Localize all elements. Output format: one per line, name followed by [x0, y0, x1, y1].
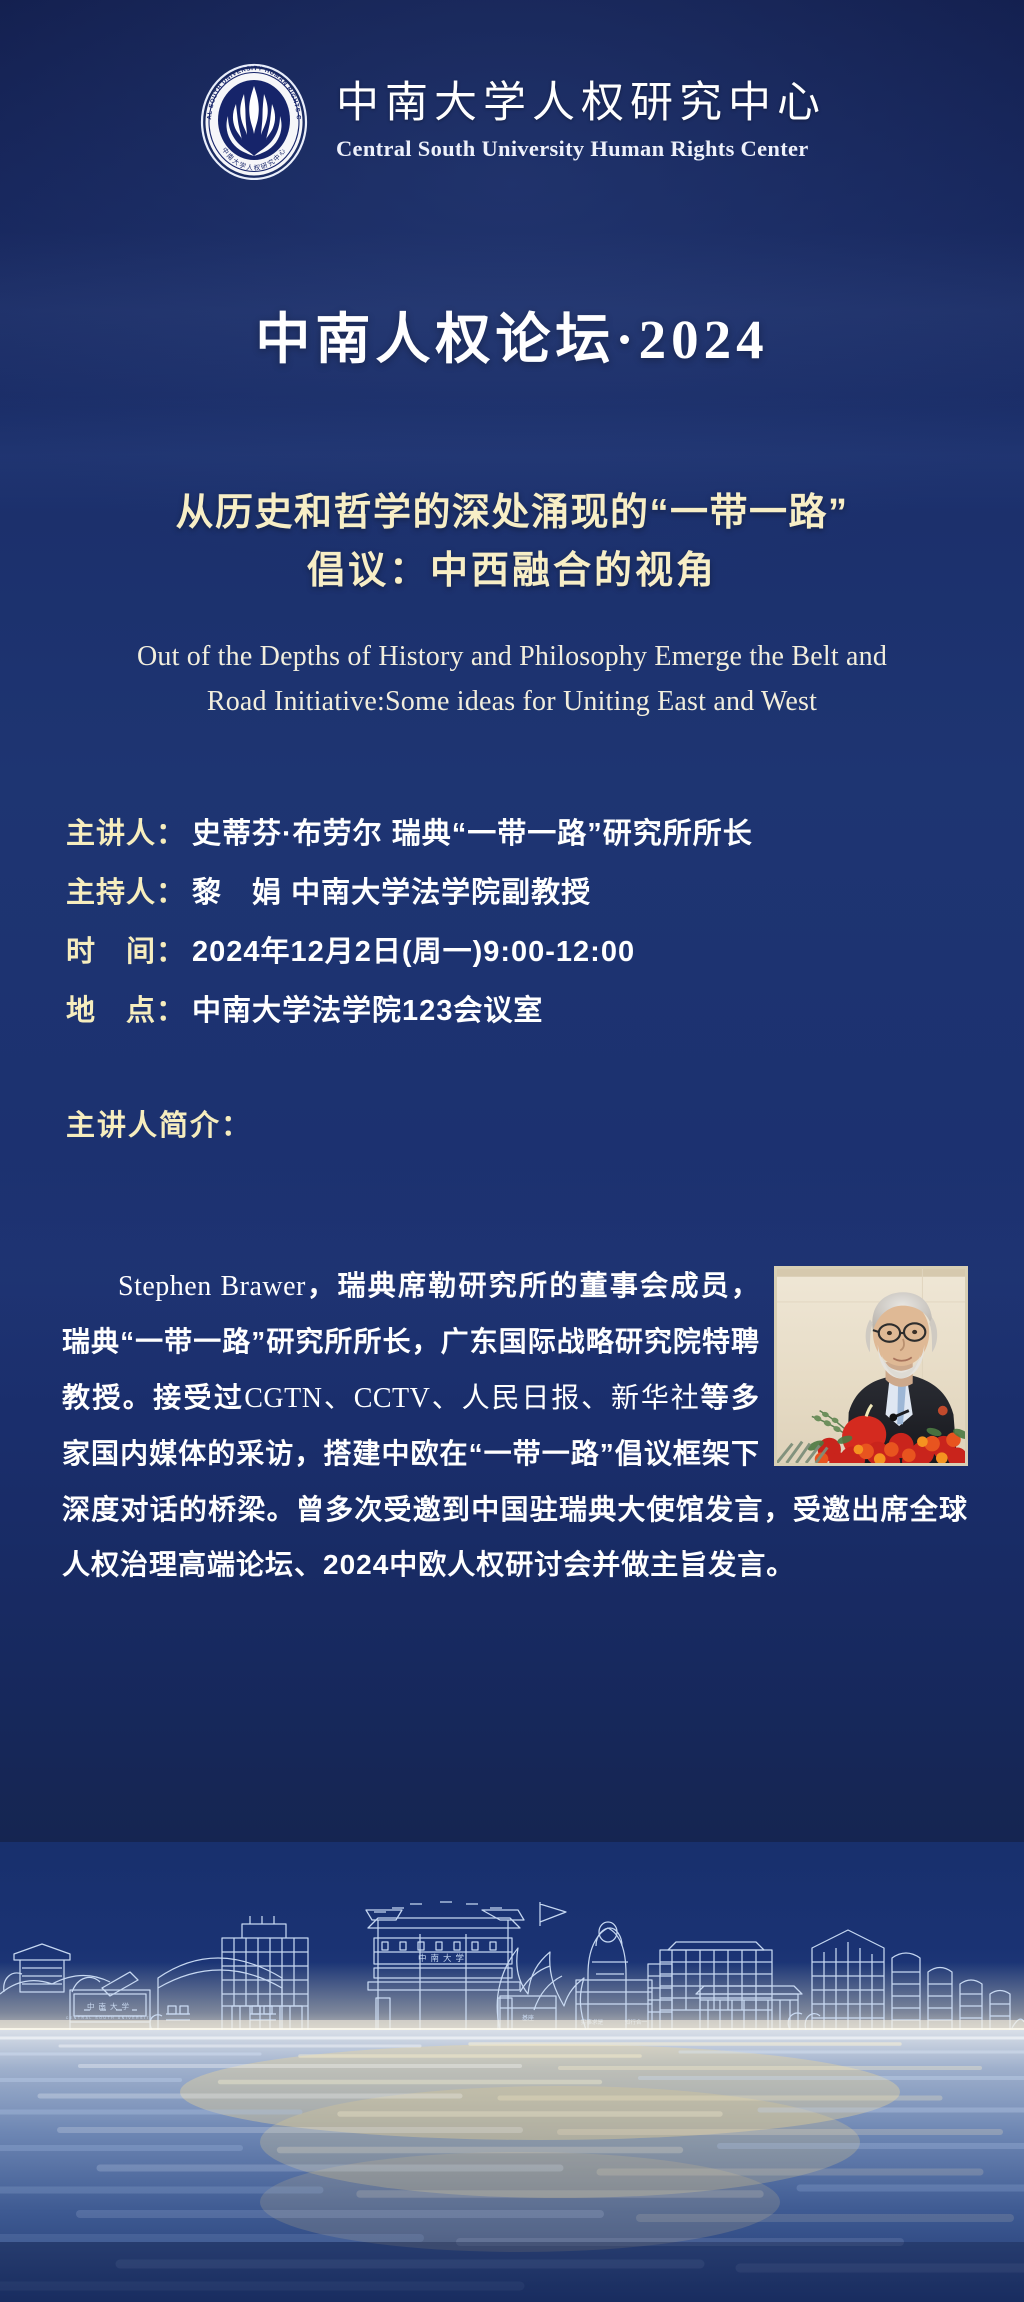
info-label-time: 时 间：: [66, 938, 186, 967]
info-value-time: 2024年12月2日(周一)9:00-12:00: [192, 938, 635, 967]
hrc-logo-svg: CENTRAL SOUTH UNIVERSITY HUMAN RIGHTS CE…: [198, 60, 310, 180]
info-label-speaker: 主讲人：: [66, 820, 186, 849]
svg-text:CENTRAL SOUTH UNIVERSITY: CENTRAL SOUTH UNIVERSITY: [66, 2016, 154, 2020]
forum-title: 中南人权论坛·2024: [0, 294, 1024, 374]
hrc-logo: CENTRAL SOUTH UNIVERSITY HUMAN RIGHTS CE…: [198, 60, 310, 180]
svg-text:中南大学: 中南大学: [418, 1953, 468, 1963]
poster-header: CENTRAL SOUTH UNIVERSITY HUMAN RIGHTS CE…: [0, 60, 1024, 180]
info-value-venue: 中南大学法学院123会议室: [192, 997, 543, 1026]
lecture-title-en-line1: Out of the Depths of History and Philoso…: [40, 634, 984, 679]
info-row-time: 时 间： 2024年12月2日(周一)9:00-12:00: [66, 938, 984, 967]
header-title-cn: 中南大学人权研究中心: [336, 78, 826, 130]
poster-canvas: CENTRAL SOUTH UNIVERSITY HUMAN RIGHTS CE…: [0, 0, 1024, 2302]
lecture-title-cn-line1: 从历史和哲学的深处涌现的“一带一路”: [24, 485, 1000, 543]
header-title-en: Central South University Human Rights Ce…: [336, 136, 809, 162]
info-row-venue: 地 点： 中南大学法学院123会议室: [66, 997, 984, 1026]
footer-skyline-art: 中南大学 中南大学 CENTRAL SOUTH UNIVERSITY 基座: [0, 1842, 1024, 2302]
info-row-speaker: 主讲人： 史蒂芬·布劳尔 瑞典“一带一路”研究所所长: [66, 820, 984, 849]
lecture-title-cn: 从历史和哲学的深处涌现的“一带一路” 倡议：中西融合的视角: [24, 485, 1000, 601]
lecture-title-en: Out of the Depths of History and Philoso…: [40, 634, 984, 725]
lecture-title-en-line2: Road Initiative:Some ideas for Uniting E…: [40, 679, 984, 724]
speaker-photo: [774, 1266, 968, 1466]
info-row-host: 主持人： 黎 娟 中南大学法学院副教授: [66, 879, 984, 908]
header-text-block: 中南大学人权研究中心 Central South University Huma…: [336, 78, 826, 162]
info-label-venue: 地 点：: [66, 997, 186, 1026]
info-value-speaker: 史蒂芬·布劳尔 瑞典“一带一路”研究所所长: [192, 820, 753, 849]
bio-body: Stephen Brawer，瑞典席勒研究所的董事会成员，瑞典“一带一路”研究所…: [62, 1258, 968, 1593]
bio-speaker-name: Stephen Brawer: [118, 1271, 306, 1302]
info-value-host: 黎 娟 中南大学法学院副教授: [192, 879, 591, 908]
bio-text-media: CGTN、CCTV、人民日报、新华社: [244, 1383, 700, 1414]
info-label-host: 主持人：: [66, 879, 186, 908]
event-info-block: 主讲人： 史蒂芬·布劳尔 瑞典“一带一路”研究所所长 主持人： 黎 娟 中南大学…: [66, 820, 984, 1056]
bio-heading: 主讲人简介：: [66, 1102, 252, 1144]
footer-skyline-svg: 中南大学 中南大学 CENTRAL SOUTH UNIVERSITY 基座: [0, 1842, 1024, 2302]
speaker-photo-illustration: [777, 1269, 965, 1463]
lecture-title-cn-line2: 倡议：中西融合的视角: [24, 543, 1000, 601]
svg-text:中南大学: 中南大学: [87, 2001, 133, 2011]
